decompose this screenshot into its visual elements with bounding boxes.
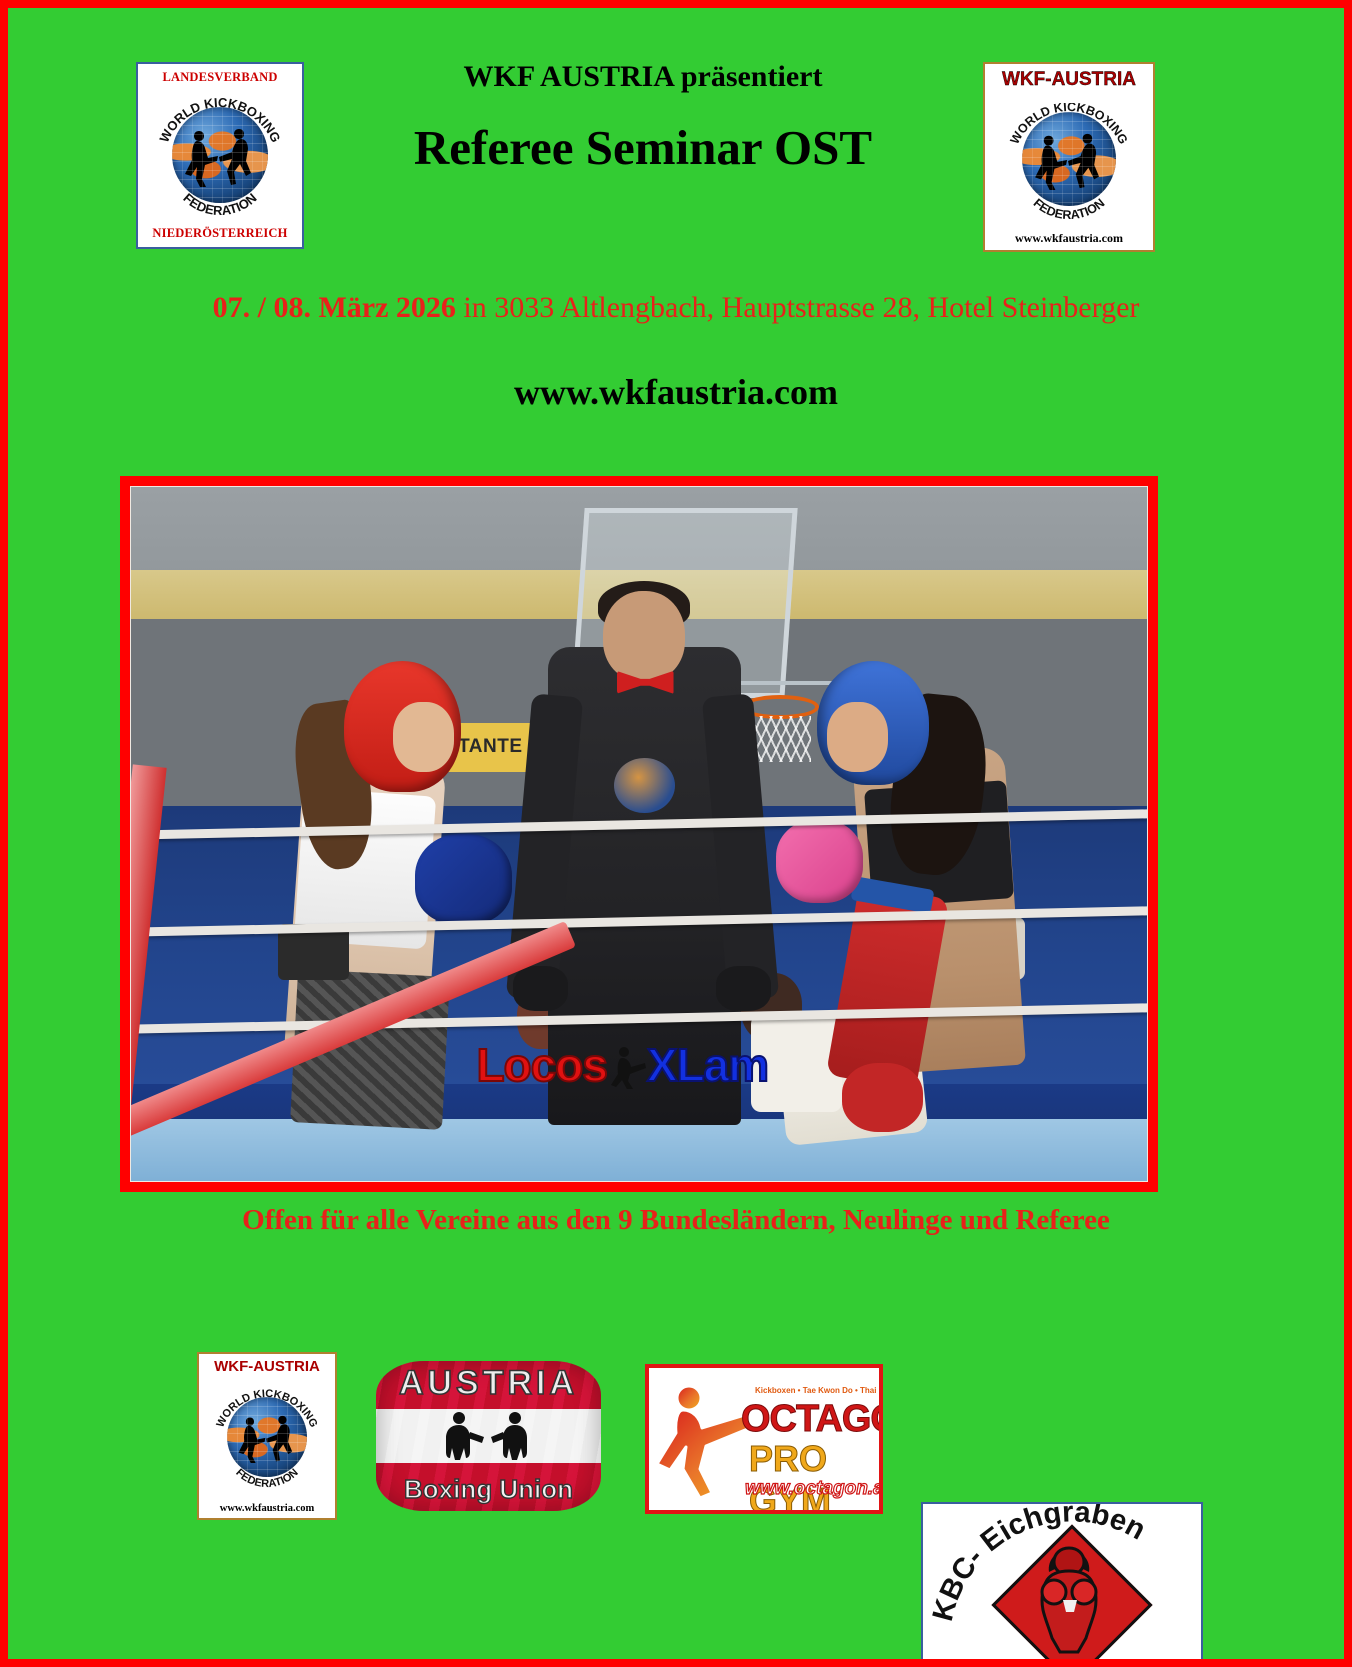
tagline: Offen für alle Vereine aus den 9 Bundesl… <box>8 1204 1344 1237</box>
poster-root: LANDESVERBAND <box>8 8 1344 1659</box>
wkf-emblem: WORLD KICKBOXING FEDERATION <box>154 97 286 215</box>
watermark-locos: Locos <box>476 1039 606 1091</box>
kicker-silhouette-icon <box>655 1376 751 1510</box>
title-block: WKF AUSTRIA präsentiert Referee Seminar … <box>308 60 978 175</box>
logo-bottom-caption: NIEDERÖSTERREICH <box>152 226 287 241</box>
sponsor-octagon-pro-gym[interactable]: Kickboxen • Tae Kwon Do • Thai Boxen OCT… <box>645 1364 883 1514</box>
globe-icon <box>1022 112 1116 206</box>
ring-rope-red <box>130 921 577 1153</box>
wkf-brand-text: WKF-AUSTRIA <box>1002 69 1136 91</box>
octagon-line2: PRO GYM <box>749 1438 879 1514</box>
wkf-url-text: www.wkfaustria.com <box>1015 231 1123 246</box>
boxers-silhouette-icon <box>376 1409 601 1465</box>
sponsor-austria-boxing-union[interactable]: AUSTRIA Boxing Union <box>376 1352 601 1520</box>
boxer-figure-icon <box>1023 1544 1115 1656</box>
austria-flag-badge: AUSTRIA Boxing Union <box>376 1361 601 1511</box>
abu-top-text: AUSTRIA <box>376 1364 601 1403</box>
logo-wkf-austria-header: WKF-AUSTRIA <box>983 62 1155 252</box>
globe-icon <box>172 107 268 203</box>
event-website[interactable]: www.wkfaustria.com <box>8 371 1344 413</box>
sponsor-wkf-austria[interactable]: WKF-AUSTRIA <box>197 1352 337 1520</box>
wkf-emblem: WORLD KICKBOXING FEDERATION <box>211 1389 323 1489</box>
kickboxers-icon <box>1022 112 1116 206</box>
watermark-xlam: XLam <box>647 1039 768 1091</box>
ring-rope <box>130 906 1148 937</box>
logo-landesverband-niederoesterreich: LANDESVERBAND <box>136 62 304 249</box>
kickboxers-icon <box>227 1397 307 1477</box>
octagon-disciplines: Kickboxen • Tae Kwon Do • Thai Boxen <box>755 1386 883 1395</box>
kicker-silhouette-icon <box>607 1045 647 1089</box>
logo-top-caption: LANDESVERBAND <box>162 70 277 85</box>
ring-rope <box>130 1003 1148 1034</box>
globe-icon <box>227 1397 307 1477</box>
sponsor-wkf-brand: WKF-AUSTRIA <box>214 1358 320 1375</box>
abu-bottom-text: Boxing Union <box>376 1474 601 1505</box>
ring-rope <box>130 809 1148 840</box>
event-location: in 3033 Altlengbach, Hauptstrasse 28, Ho… <box>456 291 1139 324</box>
presenter-line: WKF AUSTRIA präsentiert <box>308 60 978 93</box>
event-date: 07. / 08. März 2026 <box>213 291 456 324</box>
event-dateline: 07. / 08. März 2026 in 3033 Altlengbach,… <box>8 291 1344 325</box>
octagon-line1: OCTAGON <box>741 1398 883 1441</box>
kickboxers-icon <box>172 107 268 203</box>
photo-frame: VISITANTE <box>120 476 1158 1192</box>
sponsor-row: WKF-AUSTRIA <box>8 1338 1344 1528</box>
sponsor-kbc-eichgraben[interactable]: KBC- Eichgraben <box>921 1502 1203 1659</box>
photo-watermark: Locos XLam <box>476 1042 768 1089</box>
event-photo: VISITANTE <box>130 486 1148 1182</box>
poster-header: LANDESVERBAND <box>8 8 1344 258</box>
wkf-emblem: WORLD KICKBOXING FEDERATION <box>1003 103 1135 219</box>
page-title: Referee Seminar OST <box>308 121 978 175</box>
sponsor-wkf-url: www.wkfaustria.com <box>220 1503 315 1514</box>
octagon-url: www.octagon.at <box>745 1478 883 1500</box>
